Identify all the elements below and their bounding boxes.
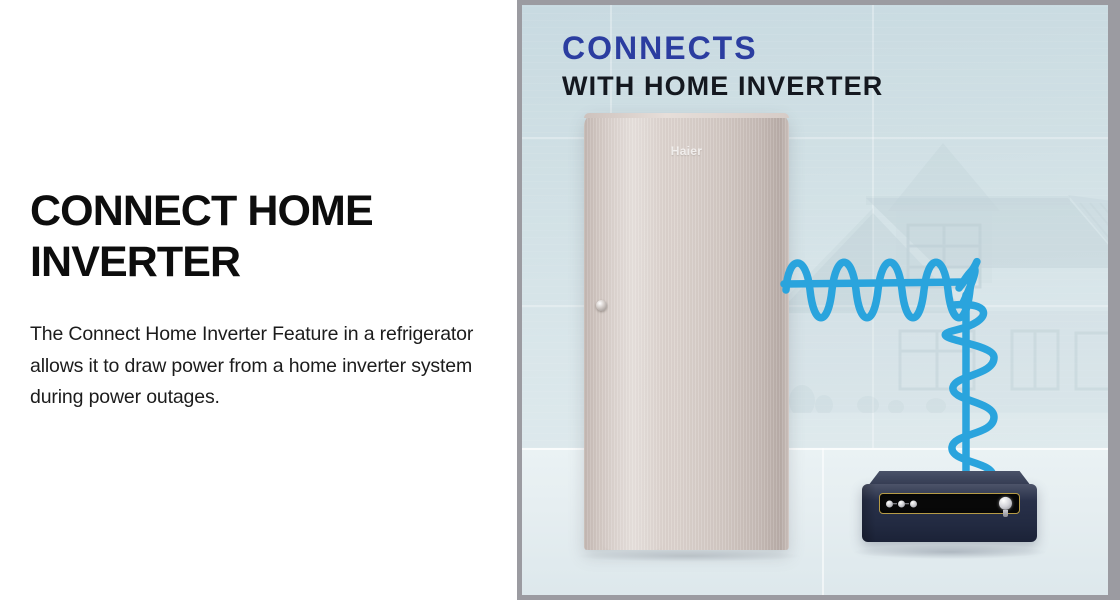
- inverter-led-separator: [905, 503, 909, 505]
- feature-description: The Connect Home Inverter Feature in a r…: [30, 319, 497, 414]
- door-lock-icon: [596, 300, 607, 311]
- panel-headline: CONNECTS WITH HOME INVERTER: [562, 31, 883, 102]
- feature-image-panel: CONNECTS WITH HOME INVERTER Haier: [517, 0, 1120, 600]
- inverter-indicator-led: [898, 500, 905, 507]
- refrigerator: Haier: [584, 113, 789, 550]
- promo-banner: CONNECT HOME INVERTER The Connect Home I…: [0, 0, 1120, 600]
- panel-headline-line2: WITH HOME INVERTER: [562, 70, 883, 102]
- power-knob-icon: [999, 496, 1012, 509]
- inverter-led-separator: [893, 503, 897, 505]
- brand-logo: Haier: [671, 144, 703, 158]
- inverter-indicator-led: [910, 500, 917, 507]
- refrigerator-highlight: [600, 113, 666, 550]
- panel-headline-line1: CONNECTS: [562, 31, 883, 67]
- inverter-display-panel: [879, 493, 1020, 514]
- scene: CONNECTS WITH HOME INVERTER Haier: [522, 5, 1108, 595]
- house-outline-icon: [768, 83, 1108, 413]
- inverter-indicator-led: [886, 500, 893, 507]
- inverter-side-shade: [862, 484, 876, 542]
- floor-seam: [822, 448, 824, 595]
- page-title: CONNECT HOME INVERTER: [30, 186, 450, 287]
- home-inverter: [862, 471, 1037, 550]
- text-column: CONNECT HOME INVERTER The Connect Home I…: [0, 0, 517, 600]
- refrigerator-top-edge: [584, 113, 789, 118]
- inverter-front: [862, 484, 1037, 542]
- power-knob-stem: [1003, 510, 1008, 517]
- refrigerator-shadow: [578, 550, 800, 562]
